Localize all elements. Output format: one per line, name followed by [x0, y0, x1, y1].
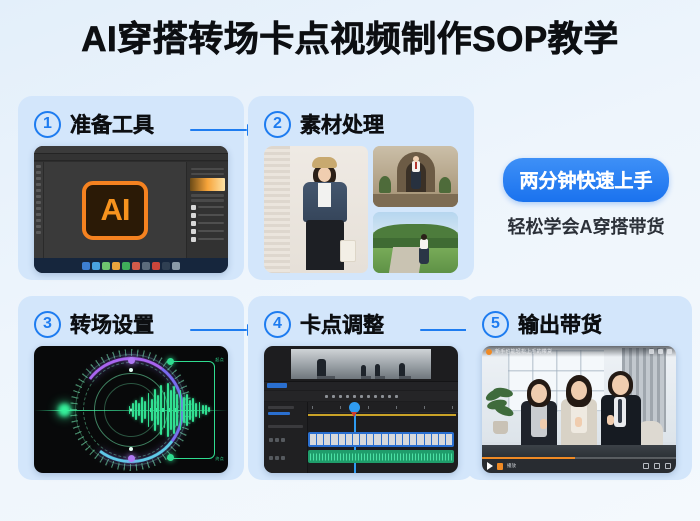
step-3-number-badge: 3: [34, 311, 61, 338]
step-card-2[interactable]: 2 素材处理: [248, 96, 474, 280]
step-4-header: 4 卡点调整: [264, 309, 384, 339]
promo-pill-badge[interactable]: 两分钟快速上手: [503, 158, 668, 202]
gradient-swatch: [190, 178, 225, 191]
scene-plant: [485, 388, 515, 434]
page-title-wrapper: AI穿搭转场卡点视频制作SOP教学: [0, 22, 700, 57]
player-time-label: 播放: [507, 463, 516, 469]
radar-node-bottom: [129, 447, 133, 451]
player-top-actions[interactable]: [649, 349, 672, 354]
player-logo-icon: [486, 349, 492, 355]
step-3-header: 3 转场设置: [34, 309, 154, 339]
radar-label-start: 起点: [215, 357, 224, 363]
step-4-number-badge: 4: [264, 311, 291, 338]
step-5-number-badge: 5: [482, 311, 509, 338]
illustrator-window-thumbnail[interactable]: AI: [34, 146, 228, 273]
step-card-5[interactable]: 5 输出带货: [466, 296, 692, 480]
promo-panel: 两分钟快速上手 轻松学会A穿搭带货: [486, 158, 686, 239]
theater-icon: [654, 463, 660, 469]
illustrator-window: AI: [34, 146, 228, 273]
photo-grid: [264, 146, 458, 273]
illustrator-right-panel: [186, 162, 228, 258]
step-2-header: 2 素材处理: [264, 109, 384, 139]
outfit-photo-lawn[interactable]: [373, 212, 458, 273]
illustrator-toolbar: [34, 162, 44, 258]
menu-icon: [667, 349, 672, 354]
presenter-center: [558, 375, 600, 451]
step-5-header: 5 输出带货: [482, 309, 602, 339]
program-monitor: [291, 349, 431, 379]
radar-waveform: [129, 383, 210, 437]
illustrator-titlebar: [34, 146, 228, 154]
video-editor: [264, 346, 458, 473]
fullscreen-icon: [665, 463, 671, 469]
outfit-photo-building[interactable]: [373, 146, 458, 207]
macos-dock: [34, 258, 228, 273]
play-icon[interactable]: [487, 462, 493, 470]
audio-waveform: [310, 453, 452, 460]
step-1-number-badge: 1: [34, 111, 61, 138]
editor-active-tab[interactable]: [267, 383, 287, 388]
player-video-title: 新手也能轻松上手的带货: [495, 348, 552, 355]
outfit-photo-grid-thumbnail[interactable]: [264, 146, 458, 273]
infographic-page: AI穿搭转场卡点视频制作SOP教学 1 准备工具 AI: [0, 0, 700, 521]
editor-tab-bar: [264, 381, 458, 390]
radar-keyframe-bottom[interactable]: [128, 455, 135, 462]
outfit-photo-main[interactable]: [264, 146, 368, 273]
presenter-right: [598, 371, 644, 451]
radar-bracket-node-end[interactable]: [167, 454, 174, 461]
timeline-marker-line: [308, 414, 456, 416]
player-control-bar[interactable]: 播放: [482, 459, 676, 473]
photo-column: [373, 146, 458, 273]
illustrator-menubar: [34, 154, 228, 161]
radar-node-top: [129, 368, 133, 372]
beat-marker: [351, 412, 357, 417]
step-1-header: 1 准备工具: [34, 109, 154, 139]
radar-glow-node: [58, 403, 71, 416]
transition-radar: 起点 终点: [34, 346, 228, 473]
radar-label-end: 终点: [215, 456, 224, 462]
step-5-title: 输出带货: [518, 309, 602, 339]
quality-icon: [643, 463, 649, 469]
radar-bracket-node-start[interactable]: [167, 358, 174, 365]
player-top-bar: 新手也能轻松上手的带货: [482, 346, 676, 357]
page-title: AI穿搭转场卡点视频制作SOP教学: [0, 22, 700, 57]
player-right-controls[interactable]: [643, 463, 671, 469]
arrow-step3-to-step4: [190, 324, 256, 336]
cast-icon: [649, 349, 654, 354]
ai-logo: AI: [82, 181, 148, 240]
arrow-step1-to-step2: [190, 124, 256, 136]
editor-toolbar[interactable]: [264, 391, 458, 401]
illustrator-workspace: AI: [34, 162, 228, 258]
step-1-title: 准备工具: [70, 109, 154, 139]
next-icon[interactable]: [497, 463, 503, 470]
step-3-title: 转场设置: [70, 309, 154, 339]
step-2-title: 素材处理: [300, 109, 384, 139]
track-header-panel: [264, 402, 308, 473]
promo-subtitle: 轻松学会A穿搭带货: [486, 213, 686, 239]
video-player-thumbnail[interactable]: 新手也能轻松上手的带货 播放: [482, 346, 676, 473]
step-4-title: 卡点调整: [300, 309, 384, 339]
timeline-ruler[interactable]: [308, 402, 458, 413]
presenter-left: [518, 379, 560, 451]
illustrator-canvas: AI: [44, 162, 186, 258]
video-track-clip[interactable]: [308, 432, 454, 447]
video-timeline-thumbnail[interactable]: [264, 346, 458, 473]
audio-track-clip[interactable]: [308, 450, 454, 463]
transition-radar-thumbnail[interactable]: 起点 终点: [34, 346, 228, 473]
radar-keyframe-top[interactable]: [128, 357, 135, 364]
video-player: 新手也能轻松上手的带货 播放: [482, 346, 676, 473]
share-icon: [658, 349, 663, 354]
step-2-number-badge: 2: [264, 111, 291, 138]
